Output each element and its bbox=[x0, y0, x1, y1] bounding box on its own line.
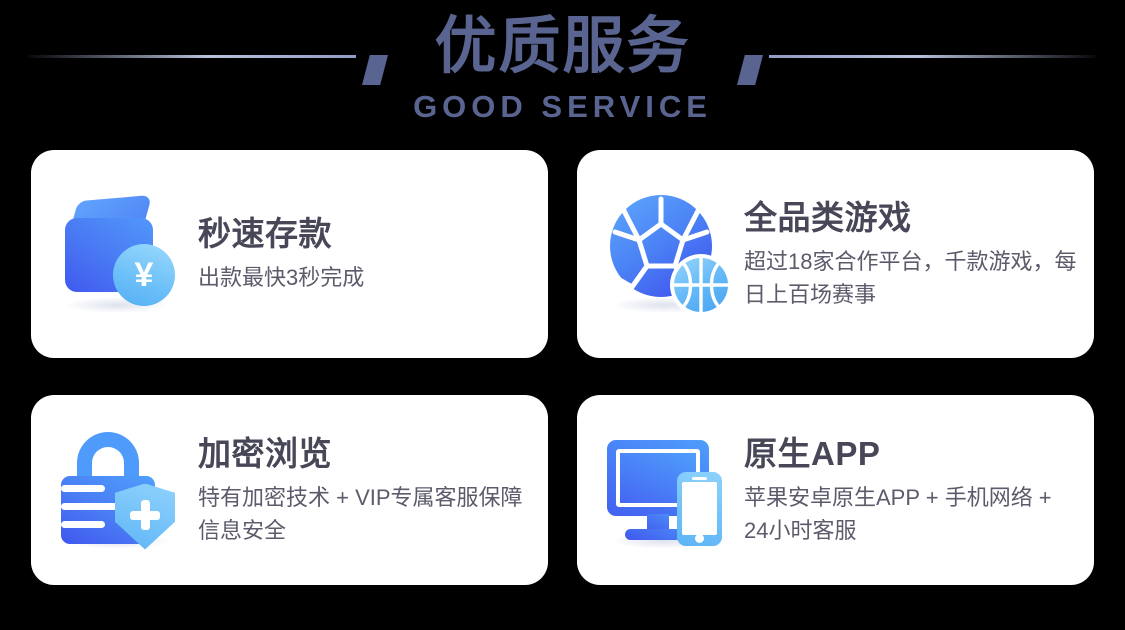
card-text-block: 加密浏览 特有加密技术 + VIP专属客服保障信息安全 bbox=[192, 434, 547, 547]
card-description: 超过18家合作平台，千款游戏，每日上百场赛事 bbox=[744, 245, 1079, 311]
monitor-with-phone-icon bbox=[603, 428, 738, 553]
mobile-phone-icon bbox=[677, 472, 722, 546]
padlock-with-shield-icon bbox=[57, 428, 192, 553]
cross-icon bbox=[130, 500, 160, 530]
wallet-with-yen-coin-icon: ¥ bbox=[57, 192, 192, 317]
banner-header: 优质服务 GOOD SERVICE bbox=[0, 0, 1125, 145]
card-title: 原生APP bbox=[744, 434, 1079, 474]
header-title-group: 优质服务 GOOD SERVICE bbox=[0, 8, 1125, 126]
card-text-block: 秒速存款 出款最快3秒完成 bbox=[192, 214, 378, 294]
card-text-block: 原生APP 苹果安卓原生APP + 手机网络 + 24小时客服 bbox=[738, 434, 1093, 547]
basketball-icon bbox=[670, 254, 732, 316]
yen-symbol: ¥ bbox=[135, 258, 154, 292]
card-description: 苹果安卓原生APP + 手机网络 + 24小时客服 bbox=[744, 481, 1079, 547]
card-title: 秒速存款 bbox=[198, 214, 364, 254]
page-title: 优质服务 bbox=[0, 8, 1125, 86]
card-description: 特有加密技术 + VIP专属客服保障信息安全 bbox=[198, 481, 533, 547]
feature-card-encrypted-browsing[interactable]: 加密浏览 特有加密技术 + VIP专属客服保障信息安全 bbox=[31, 395, 548, 585]
page-subtitle: GOOD SERVICE bbox=[0, 88, 1125, 126]
phone-screen bbox=[682, 482, 717, 535]
padlock-line-1 bbox=[61, 485, 105, 492]
card-title: 加密浏览 bbox=[198, 434, 533, 474]
monitor-stand-neck bbox=[647, 514, 669, 531]
phone-speaker bbox=[692, 477, 707, 480]
phone-home-button bbox=[695, 534, 704, 543]
padlock-line-3 bbox=[61, 521, 105, 528]
card-description: 出款最快3秒完成 bbox=[198, 261, 364, 294]
card-title: 全品类游戏 bbox=[744, 198, 1079, 238]
ball-svg bbox=[603, 192, 738, 317]
padlock-line-2 bbox=[61, 503, 119, 510]
feature-card-all-games[interactable]: 全品类游戏 超过18家合作平台，千款游戏，每日上百场赛事 bbox=[577, 150, 1094, 358]
feature-card-fast-deposit[interactable]: ¥ 秒速存款 出款最快3秒完成 bbox=[31, 150, 548, 358]
card-text-block: 全品类游戏 超过18家合作平台，千款游戏，每日上百场赛事 bbox=[738, 198, 1093, 311]
soccer-ball-with-basketball-icon bbox=[603, 192, 738, 317]
feature-card-native-app[interactable]: 原生APP 苹果安卓原生APP + 手机网络 + 24小时客服 bbox=[577, 395, 1094, 585]
good-service-banner: 优质服务 GOOD SERVICE ¥ 秒速存款 出款最快3秒完成 bbox=[0, 0, 1125, 630]
feature-card-grid: ¥ 秒速存款 出款最快3秒完成 bbox=[31, 150, 1094, 585]
yen-coin-icon: ¥ bbox=[113, 244, 175, 306]
